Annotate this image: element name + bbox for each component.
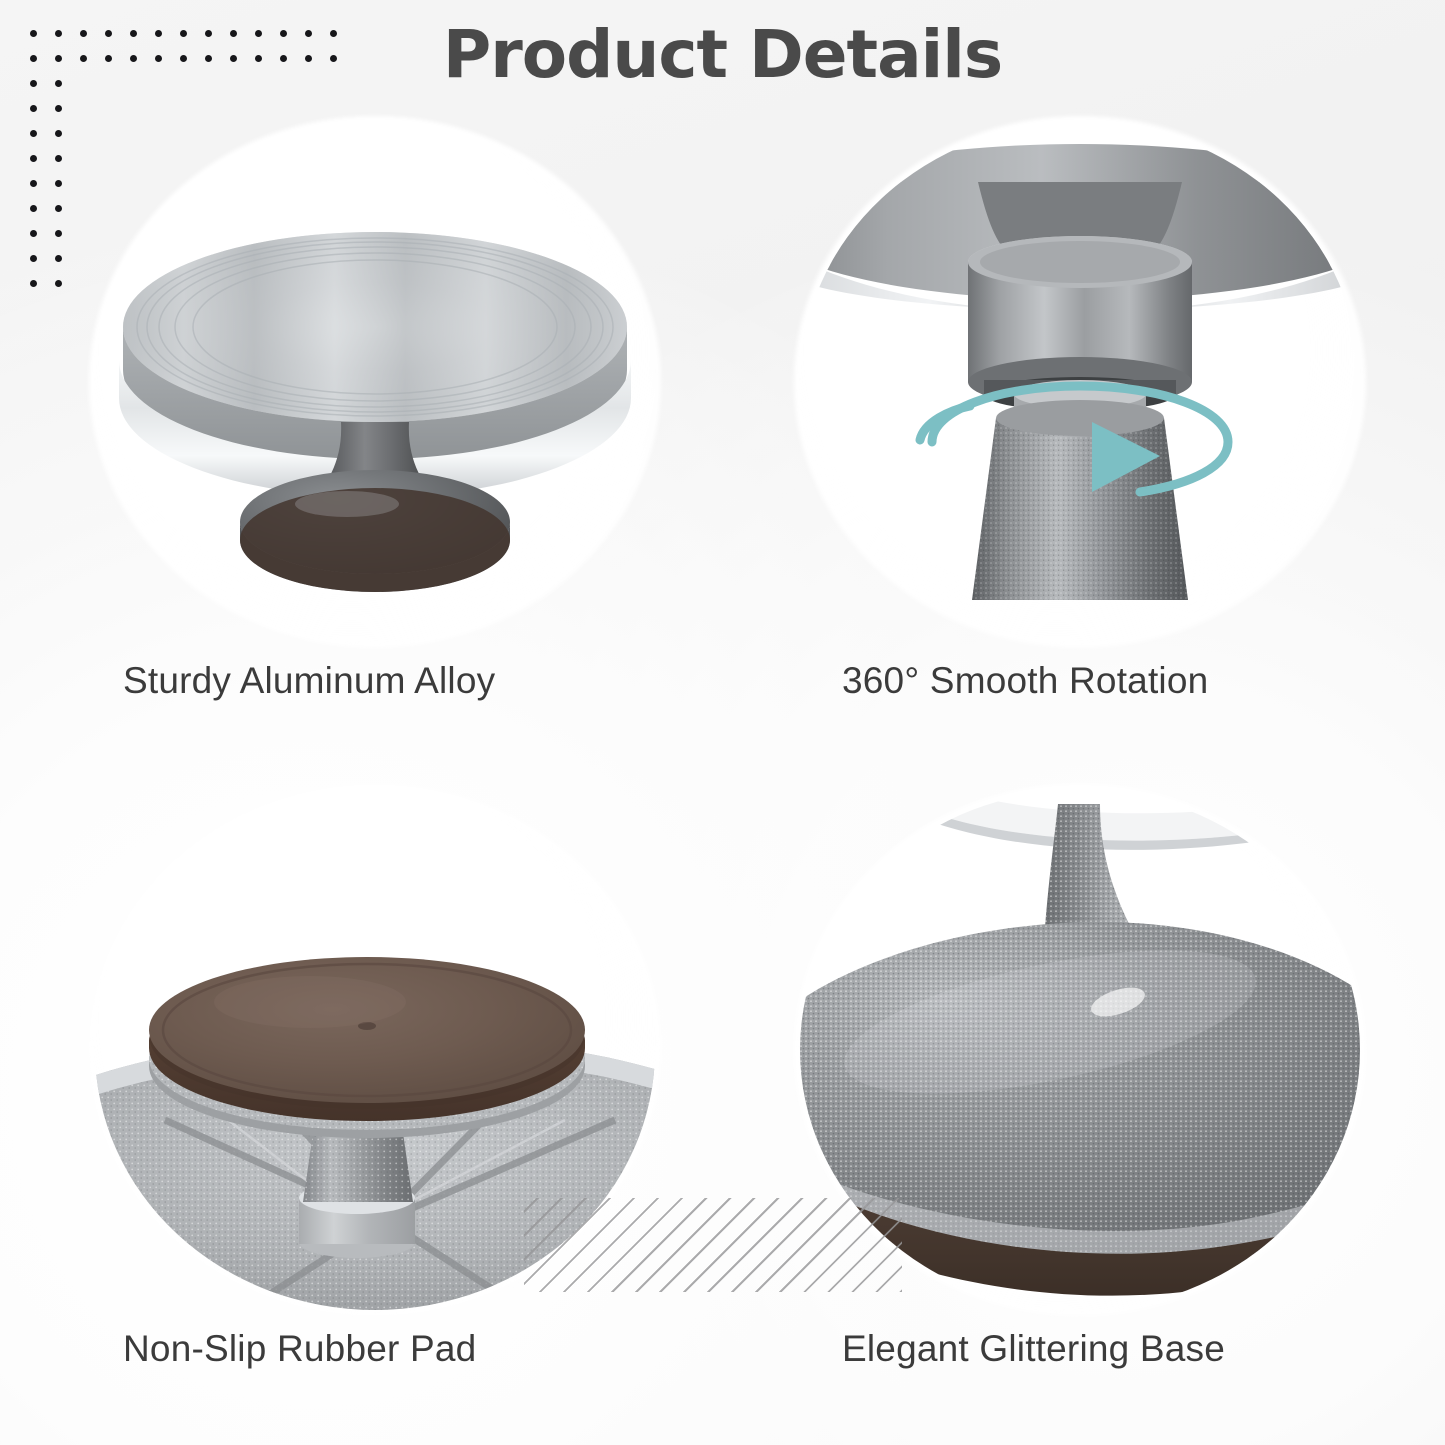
grid-dot <box>30 230 37 237</box>
grid-dot <box>30 180 37 187</box>
feature-caption: Elegant Glittering Base <box>760 1328 1400 1370</box>
feature-photo-non-slip-rubber-pad <box>95 790 655 1310</box>
feature-photo-elegant-glittering-base <box>800 790 1360 1310</box>
grid-dot <box>30 155 37 162</box>
feature-caption: 360° Smooth Rotation <box>760 660 1400 702</box>
grid-dot <box>30 105 37 112</box>
feature-photo-wrap <box>95 122 655 642</box>
page-title: Product Details <box>0 16 1445 93</box>
feature-photo-sturdy-aluminum-alloy <box>95 122 655 642</box>
feature-photo-360-smooth-rotation <box>800 122 1360 642</box>
feature-card-non-slip-rubber-pad: Non-Slip Rubber Pad <box>55 790 695 1410</box>
grid-dot <box>30 205 37 212</box>
feature-card-360-smooth-rotation: 360° Smooth Rotation <box>760 122 1400 742</box>
feature-card-sturdy-aluminum-alloy: Sturdy Aluminum Alloy <box>55 122 695 742</box>
feature-caption: Non-Slip Rubber Pad <box>55 1328 695 1370</box>
grid-dot <box>30 130 37 137</box>
grid-dot <box>30 280 37 287</box>
feature-photo-wrap <box>800 790 1360 1310</box>
grid-dot <box>55 105 62 112</box>
feature-caption: Sturdy Aluminum Alloy <box>55 660 695 702</box>
product-details-infographic: Product Details <box>0 0 1445 1445</box>
feature-photo-wrap <box>800 122 1360 642</box>
feature-card-elegant-glittering-base: Elegant Glittering Base <box>760 790 1400 1410</box>
feature-photo-wrap <box>95 790 655 1310</box>
grid-dot <box>30 255 37 262</box>
